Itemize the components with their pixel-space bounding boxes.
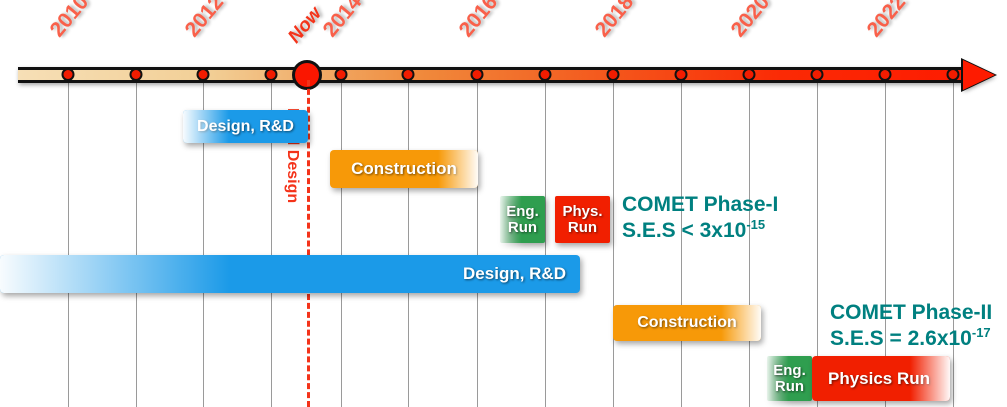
year-label-2010: 2010 xyxy=(46,0,94,42)
gridline-7 xyxy=(545,80,546,407)
p2-physics-run-label: Physics Run xyxy=(812,369,950,389)
p2-construction-label: Construction xyxy=(613,314,761,332)
gridline-4 xyxy=(341,80,342,407)
phase2-annotation: COMET Phase-IIS.E.S = 2.6x10-17 xyxy=(830,300,992,351)
year-label-2014: 2014 xyxy=(319,0,367,42)
axis-tick-6 xyxy=(402,68,415,81)
phase1-annotation: COMET Phase-IS.E.S < 3x10-15 xyxy=(622,192,778,243)
axis-tick-1 xyxy=(130,68,143,81)
gridline-8 xyxy=(613,80,614,407)
axis-tick-8 xyxy=(539,68,552,81)
p2-construction-bar: Construction xyxy=(613,305,761,341)
p1-construction-bar: Construction xyxy=(330,150,478,188)
axis-arrow-icon xyxy=(963,60,995,90)
year-label-2022: 2022 xyxy=(863,0,911,42)
annot-p2-exponent: -17 xyxy=(972,325,991,340)
p2-physics-run-bar: Physics Run xyxy=(812,356,950,401)
p1-eng-run-line-1: Run xyxy=(508,220,537,235)
axis-tick-10 xyxy=(675,68,688,81)
gridline-10 xyxy=(749,80,750,407)
annot-p2-line1: COMET Phase-II xyxy=(830,300,992,325)
p2-eng-run-line-0: Eng. xyxy=(773,363,806,378)
p1-phys-run-line-0: Phys. xyxy=(562,204,602,219)
annot-p1-line2: S.E.S < 3x10-15 xyxy=(622,217,778,243)
axis-bar xyxy=(18,67,973,83)
p2-design-label: Design, R&D xyxy=(0,264,580,284)
axis-tick-14 xyxy=(947,68,960,81)
year-label-2012: 2012 xyxy=(181,0,229,42)
p2-eng-run-box: Eng.Run xyxy=(767,356,812,401)
axis-tick-9 xyxy=(607,68,620,81)
gridline-6 xyxy=(477,80,478,407)
year-label-2020: 2020 xyxy=(727,0,775,42)
p1-design-bar: Design, R&D xyxy=(183,110,308,143)
axis-tick-12 xyxy=(811,68,824,81)
gridline-13 xyxy=(953,80,954,407)
p1-phys-run-line-1: Run xyxy=(568,220,597,235)
axis-tick-7 xyxy=(471,68,484,81)
year-label-2018: 2018 xyxy=(591,0,639,42)
axis-tick-3 xyxy=(265,68,278,81)
p1-construction-label: Construction xyxy=(330,159,478,179)
gridline-9 xyxy=(681,80,682,407)
axis-tick-2 xyxy=(197,68,210,81)
p2-eng-run-line-1: Run xyxy=(775,379,804,394)
axis-tick-13 xyxy=(879,68,892,81)
year-label-2016: 2016 xyxy=(455,0,503,42)
annot-p2-line2: S.E.S = 2.6x10-17 xyxy=(830,325,992,351)
p1-eng-run-line-0: Eng. xyxy=(506,204,539,219)
timeline-diagram: 2010201220142016201820202022Now Final De… xyxy=(0,0,1007,407)
annot-p1-line1: COMET Phase-I xyxy=(622,192,778,217)
axis-tick-0 xyxy=(62,68,75,81)
p1-phys-run-box: Phys.Run xyxy=(555,196,610,243)
p2-design-bar: Design, R&D xyxy=(0,255,580,293)
axis-tick-11 xyxy=(743,68,756,81)
gridline-5 xyxy=(408,80,409,407)
p1-eng-run-box: Eng.Run xyxy=(500,196,545,243)
p1-design-label: Design, R&D xyxy=(183,118,308,136)
gridline-0 xyxy=(68,80,69,407)
axis-tick-5 xyxy=(335,68,348,81)
annot-p1-exponent: -15 xyxy=(746,217,765,232)
gridline-1 xyxy=(136,80,137,407)
timeline-axis: 2010201220142016201820202022Now xyxy=(0,0,1007,110)
